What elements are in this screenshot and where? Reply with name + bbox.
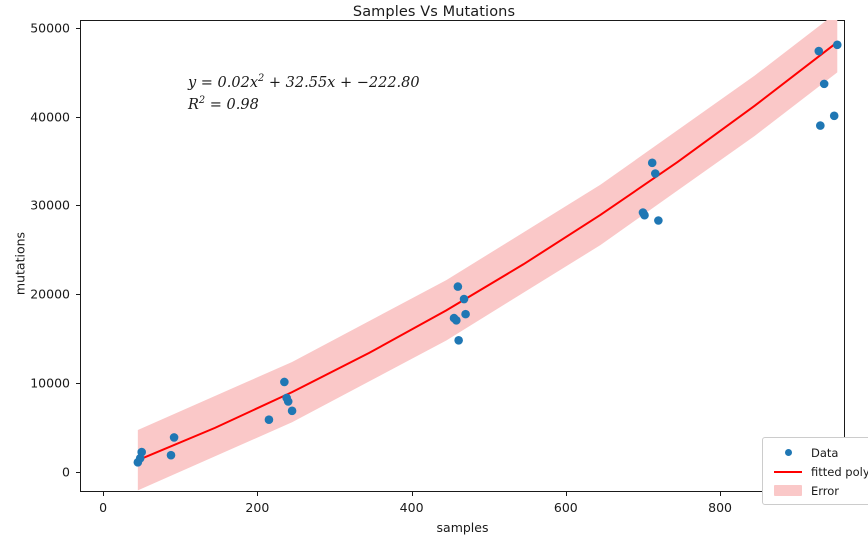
y-tick-mark [76,294,80,295]
x-tick-mark [257,492,258,496]
y-tick-mark [76,28,80,29]
data-point [833,41,842,50]
y-tick-mark [76,383,80,384]
x-tick-mark [412,492,413,496]
x-tick-mark [720,492,721,496]
data-point [816,121,825,130]
x-tick-mark [566,492,567,496]
data-point [651,169,660,178]
data-point [640,211,649,220]
data-point [454,336,463,345]
data-point [648,159,657,168]
plot-area: y = 0.02x2 + 32.55x + −222.80 R2 = 0.98 … [80,20,845,492]
data-point [170,433,179,442]
y-tick-label: 10000 [8,375,70,390]
x-tick-label: 400 [400,500,424,515]
r-squared-prefix: R [188,97,199,113]
y-tick-label: 50000 [8,20,70,35]
data-point [280,378,289,387]
legend-marker-icon [771,449,805,456]
data-point [461,310,470,319]
chart-title: Samples Vs Mutations [0,4,868,20]
x-tick-mark [103,492,104,496]
y-tick-mark [76,205,80,206]
legend-item-data[interactable]: Data [771,443,868,462]
legend-patch-icon [771,485,805,496]
figure-canvas: Samples Vs Mutations y = 0.02x2 + 32.55x… [0,0,868,547]
data-point [454,282,463,291]
y-tick-label: 40000 [8,109,70,124]
equation-suffix: + 32.55x + −222.80 [264,75,419,91]
x-tick-label: 600 [554,500,578,515]
y-axis-label: mutations [13,204,28,324]
legend-label-data: Data [811,446,838,460]
y-tick-mark [76,472,80,473]
x-tick-label: 200 [245,500,269,515]
legend-label-fitted-polynomial: fitted polynomial [811,465,868,479]
data-point [452,316,461,325]
legend-item-fitted-polynomial[interactable]: fitted polynomial [771,462,868,481]
r-squared-line: R2 = 0.98 [188,94,420,116]
y-tick-mark [76,117,80,118]
equation-prefix: y = 0.02x [188,75,258,91]
legend-line-icon [771,471,805,473]
data-point [460,295,469,304]
data-point [137,448,146,457]
data-point [830,112,839,121]
legend-label-error: Error [811,484,839,498]
legend[interactable]: Data fitted polynomial Error [762,437,868,505]
data-point [288,407,297,416]
data-point [265,415,274,424]
data-point [820,80,829,89]
r-squared-suffix: = 0.98 [205,97,259,113]
data-point [167,451,176,460]
y-tick-label: 0 [8,464,70,479]
x-axis-label: samples [80,520,845,535]
equation-line: y = 0.02x2 + 32.55x + −222.80 [188,72,420,94]
legend-item-error[interactable]: Error [771,481,868,500]
equation-annotation: y = 0.02x2 + 32.55x + −222.80 R2 = 0.98 [188,72,420,116]
data-point [814,47,823,56]
x-tick-label: 800 [708,500,732,515]
data-point [654,216,663,225]
data-point [284,397,293,406]
x-tick-label: 0 [99,500,107,515]
